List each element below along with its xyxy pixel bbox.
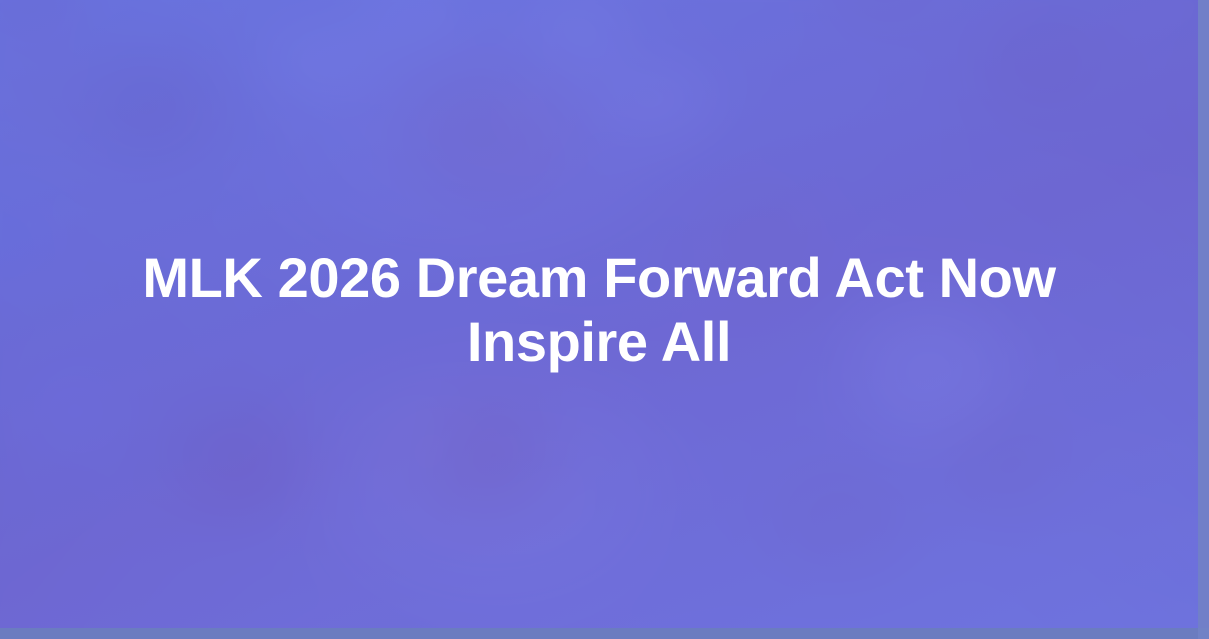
vertical-scrollbar[interactable] <box>1198 0 1209 628</box>
hero-content: MLK 2026 Dream Forward Act Now Inspire A… <box>0 0 1198 628</box>
page-title: MLK 2026 Dream Forward Act Now Inspire A… <box>134 246 1064 374</box>
hero-banner: MLK 2026 Dream Forward Act Now Inspire A… <box>0 0 1198 628</box>
browser-viewport: MLK 2026 Dream Forward Act Now Inspire A… <box>0 0 1209 639</box>
vertical-scrollbar-thumb[interactable] <box>1198 0 1209 628</box>
scrollbar-corner <box>1198 628 1209 639</box>
horizontal-scrollbar[interactable] <box>0 628 1209 639</box>
horizontal-scrollbar-thumb[interactable] <box>0 628 1198 639</box>
